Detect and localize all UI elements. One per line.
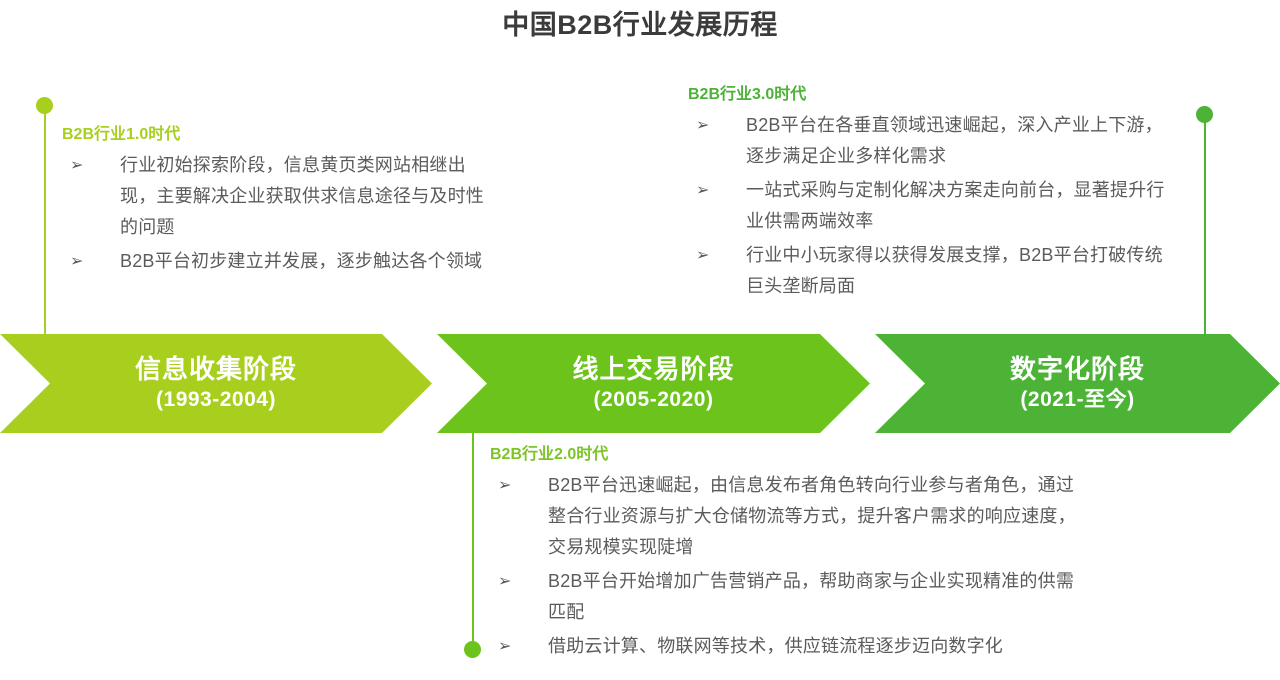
era-1-bullet-1-text: 行业初始探索阶段，信息黄页类网站相继出现，主要解决企业获取供求信息途径与及时性的… <box>120 155 484 237</box>
arrow-bullet-icon: ➢ <box>498 470 512 501</box>
stage-banner-1[interactable]: 信息收集阶段 (1993-2004) <box>0 334 432 433</box>
era-3-heading: B2B行业3.0时代 <box>688 84 1178 106</box>
arrow-bullet-icon: ➢ <box>696 240 710 271</box>
connector-middle-dot <box>464 641 481 658</box>
stage-banner-1-years: (1993-2004) <box>156 386 276 414</box>
arrow-bullet-icon: ➢ <box>70 246 84 277</box>
arrow-bullet-icon: ➢ <box>696 110 710 141</box>
era-2-block: B2B行业2.0时代 ➢ B2B平台迅速崛起，由信息发布者角色转向行业参与者角色… <box>490 444 1080 665</box>
era-1-bullet-2: ➢ B2B平台初步建立并发展，逐步触达各个领域 <box>62 246 492 277</box>
era-1-bullet-list: ➢ 行业初始探索阶段，信息黄页类网站相继出现，主要解决企业获取供求信息途径与及时… <box>62 150 492 277</box>
arrow-bullet-icon: ➢ <box>498 566 512 597</box>
arrow-bullet-icon: ➢ <box>498 631 512 662</box>
arrow-bullet-icon: ➢ <box>696 175 710 206</box>
stage-banner-2-years: (2005-2020) <box>594 386 714 414</box>
era-1-heading: B2B行业1.0时代 <box>62 124 492 146</box>
stage-banner-1-title: 信息收集阶段 <box>135 353 297 385</box>
era-2-bullet-3: ➢ 借助云计算、物联网等技术，供应链流程逐步迈向数字化 <box>490 631 1080 662</box>
era-2-bullet-2-text: B2B平台开始增加广告营销产品，帮助商家与企业实现精准的供需匹配 <box>548 571 1074 622</box>
era-2-bullet-3-text: 借助云计算、物联网等技术，供应链流程逐步迈向数字化 <box>548 636 1003 656</box>
era-2-bullet-list: ➢ B2B平台迅速崛起，由信息发布者角色转向行业参与者角色，通过整合行业资源与扩… <box>490 470 1080 662</box>
stage-banner-3-years: (2021-至今) <box>1020 386 1134 414</box>
era-3-bullet-1: ➢ B2B平台在各垂直领域迅速崛起，深入产业上下游，逐步满足企业多样化需求 <box>688 110 1178 172</box>
era-3-bullet-2-text: 一站式采购与定制化解决方案走向前台，显著提升行业供需两端效率 <box>746 180 1165 231</box>
page-title: 中国B2B行业发展历程 <box>0 8 1280 42</box>
era-2-bullet-2: ➢ B2B平台开始增加广告营销产品，帮助商家与企业实现精准的供需匹配 <box>490 566 1080 628</box>
stage-banner-2[interactable]: 线上交易阶段 (2005-2020) <box>437 334 870 433</box>
stage-banner-2-title: 线上交易阶段 <box>572 353 734 385</box>
era-1-bullet-2-text: B2B平台初步建立并发展，逐步触达各个领域 <box>120 251 482 271</box>
era-3-bullet-list: ➢ B2B平台在各垂直领域迅速崛起，深入产业上下游，逐步满足企业多样化需求 ➢ … <box>688 110 1178 302</box>
infographic-canvas: 中国B2B行业发展历程 信息收集阶段 (1993-2004) 线上交易阶段 (2… <box>0 0 1280 680</box>
era-2-bullet-1-text: B2B平台迅速崛起，由信息发布者角色转向行业参与者角色，通过整合行业资源与扩大仓… <box>548 475 1076 557</box>
stage-banner-3[interactable]: 数字化阶段 (2021-至今) <box>875 334 1280 433</box>
era-2-bullet-1: ➢ B2B平台迅速崛起，由信息发布者角色转向行业参与者角色，通过整合行业资源与扩… <box>490 470 1080 563</box>
era-3-block: B2B行业3.0时代 ➢ B2B平台在各垂直领域迅速崛起，深入产业上下游，逐步满… <box>688 84 1178 305</box>
era-3-bullet-2: ➢ 一站式采购与定制化解决方案走向前台，显著提升行业供需两端效率 <box>688 175 1178 237</box>
era-1-block: B2B行业1.0时代 ➢ 行业初始探索阶段，信息黄页类网站相继出现，主要解决企业… <box>62 124 492 280</box>
era-3-bullet-3-text: 行业中小玩家得以获得发展支撑，B2B平台打破传统巨头垄断局面 <box>746 245 1163 296</box>
era-3-bullet-3: ➢ 行业中小玩家得以获得发展支撑，B2B平台打破传统巨头垄断局面 <box>688 240 1178 302</box>
connector-right-line <box>1204 119 1206 338</box>
stage-banner-3-title: 数字化阶段 <box>1010 353 1145 385</box>
era-1-bullet-1: ➢ 行业初始探索阶段，信息黄页类网站相继出现，主要解决企业获取供求信息途径与及时… <box>62 150 492 243</box>
connector-middle-line <box>472 428 474 650</box>
era-2-heading: B2B行业2.0时代 <box>490 444 1080 466</box>
arrow-bullet-icon: ➢ <box>70 150 84 181</box>
era-3-bullet-1-text: B2B平台在各垂直领域迅速崛起，深入产业上下游，逐步满足企业多样化需求 <box>746 115 1163 166</box>
connector-left-line <box>44 110 46 338</box>
